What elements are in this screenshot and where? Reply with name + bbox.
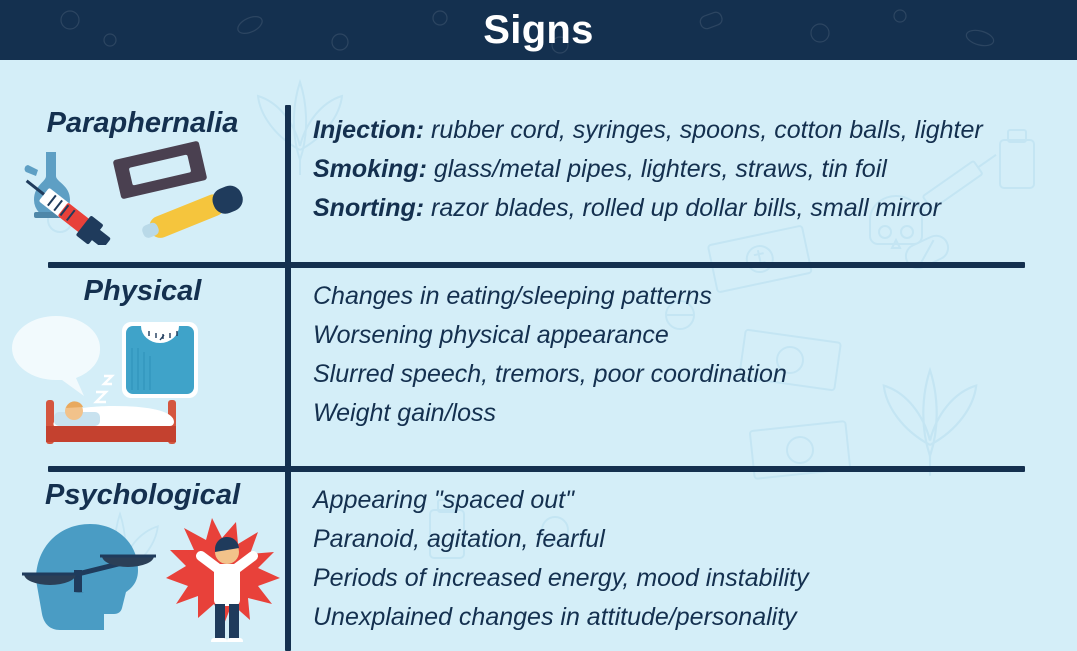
line-lead: Snorting: <box>313 194 424 222</box>
list-item: Smoking: glass/metal pipes, lighters, st… <box>313 157 1043 182</box>
list-item: Changes in eating/sleeping patterns <box>313 284 1043 309</box>
row-label-cell: Physical <box>0 276 285 453</box>
divider-row-1-2 <box>48 262 1025 268</box>
row-label-psychological: Psychological <box>0 480 285 512</box>
weight-scale-icon <box>122 322 198 398</box>
list-item: Weight gain/loss <box>313 401 1043 426</box>
divider-row-2-3 <box>48 466 1025 472</box>
list-item: Appearing "spaced out" <box>313 488 1043 513</box>
text-cell-physical: Changes in eating/sleeping patterns Wors… <box>313 284 1043 440</box>
agitated-person-icon <box>166 518 280 642</box>
row-label-physical: Physical <box>0 276 285 308</box>
razor-blade-icon <box>113 141 208 200</box>
list-item: Unexplained changes in attitude/personal… <box>313 605 1043 630</box>
row-psychological: Psychological <box>0 480 1077 651</box>
row-label-cell: Psychological <box>0 480 285 647</box>
list-item: Worsening physical appearance <box>313 323 1043 348</box>
paraphernalia-art <box>0 140 285 245</box>
head-balance-scale-icon <box>22 524 156 630</box>
list-item: Snorting: razor blades, rolled up dollar… <box>313 196 1043 221</box>
list-item: Slurred speech, tremors, poor coordinati… <box>313 362 1043 387</box>
line-lead: Injection: <box>313 116 424 144</box>
physical-art <box>0 308 285 448</box>
syringe-icon <box>19 171 115 245</box>
line-rest: glass/metal pipes, lighters, straws, tin… <box>427 155 887 183</box>
text-cell-paraphernalia: Injection: rubber cord, syringes, spoons… <box>313 118 1043 235</box>
list-item: Paranoid, agitation, fearful <box>313 527 1043 552</box>
text-cell-psychological: Appearing "spaced out" Paranoid, agitati… <box>313 488 1043 644</box>
line-rest: razor blades, rolled up dollar bills, sm… <box>424 194 941 222</box>
row-label-cell: Paraphernalia <box>0 108 285 250</box>
line-rest: rubber cord, syringes, spoons, cotton ba… <box>424 116 983 144</box>
content-area: Paraphernalia <box>0 60 1077 651</box>
header-bar: Signs <box>0 0 1077 60</box>
line-lead: Smoking: <box>313 155 427 183</box>
row-physical: Physical <box>0 276 1077 466</box>
row-paraphernalia: Paraphernalia <box>0 108 1077 262</box>
psychological-art <box>0 512 285 642</box>
speech-bubble-icon <box>12 316 100 396</box>
page-title: Signs <box>483 10 593 50</box>
list-item: Injection: rubber cord, syringes, spoons… <box>313 118 1043 143</box>
signs-infographic: Signs <box>0 0 1077 651</box>
list-item: Periods of increased energy, mood instab… <box>313 566 1043 591</box>
row-label-paraphernalia: Paraphernalia <box>0 108 285 140</box>
